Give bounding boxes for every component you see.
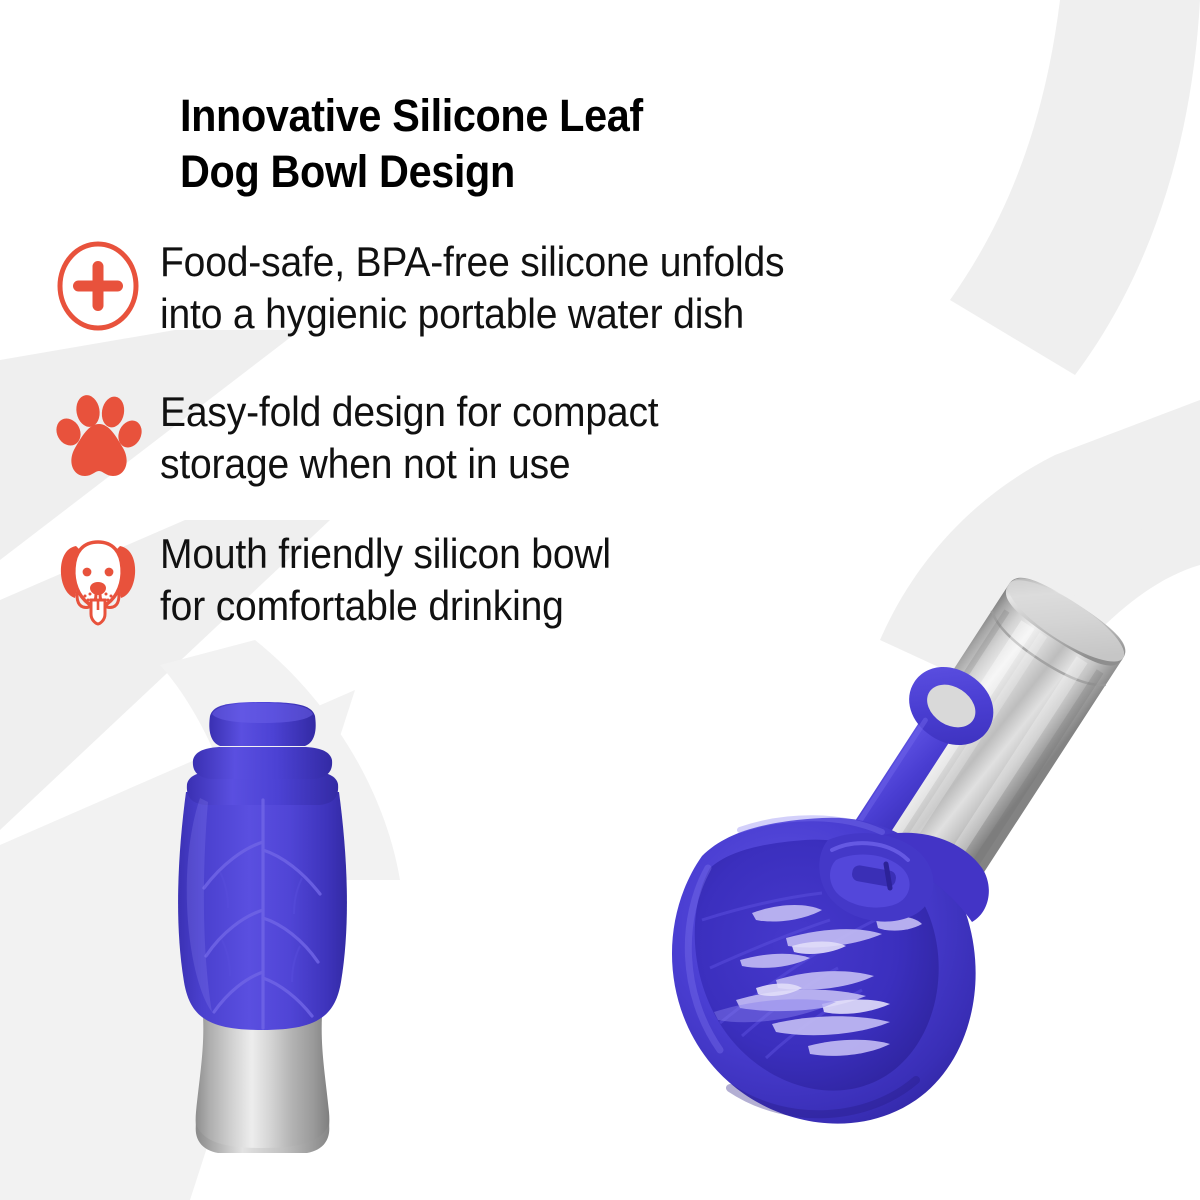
feature-text-mouth-friendly: Mouth friendly silicon bowl for comforta…	[160, 528, 611, 631]
dog-face-icon	[52, 534, 144, 626]
feature-item-easy-fold: Easy-fold design for compact storage whe…	[52, 386, 696, 489]
feature-line-1: Easy-fold design for compact	[160, 386, 658, 438]
page-title-line-2: Dog Bowl Design	[180, 144, 953, 200]
feature-text-food-safe: Food-safe, BPA-free silicone unfolds int…	[160, 236, 784, 339]
plus-circle-icon	[52, 240, 144, 332]
feature-line-2: into a hygienic portable water dish	[160, 288, 784, 340]
feature-line-2: for comfortable drinking	[160, 580, 611, 632]
infographic-canvas: Innovative Silicone Leaf Dog Bowl Design…	[0, 0, 1200, 1200]
product-image-unfolded-bottle	[590, 568, 1200, 1188]
feature-line-2: storage when not in use	[160, 438, 658, 490]
product-image-folded-bottle	[160, 672, 370, 1172]
page-title-line-1: Innovative Silicone Leaf	[180, 88, 953, 144]
decor-arc-top-right	[950, 0, 1200, 375]
feature-line-1: Food-safe, BPA-free silicone unfolds	[160, 236, 784, 288]
cap-highlight	[212, 703, 313, 723]
feature-line-1: Mouth friendly silicon bowl	[160, 528, 611, 580]
feature-text-easy-fold: Easy-fold design for compact storage whe…	[160, 386, 658, 489]
feature-item-mouth-friendly: Mouth friendly silicon bowl for comforta…	[52, 528, 645, 631]
page-title: Innovative Silicone Leaf Dog Bowl Design	[180, 88, 953, 201]
silicone-leaf-bowl	[672, 818, 989, 1124]
paw-print-icon	[52, 390, 144, 482]
feature-item-food-safe: Food-safe, BPA-free silicone unfolds int…	[52, 236, 831, 339]
silicone-collar-upper	[193, 747, 332, 779]
